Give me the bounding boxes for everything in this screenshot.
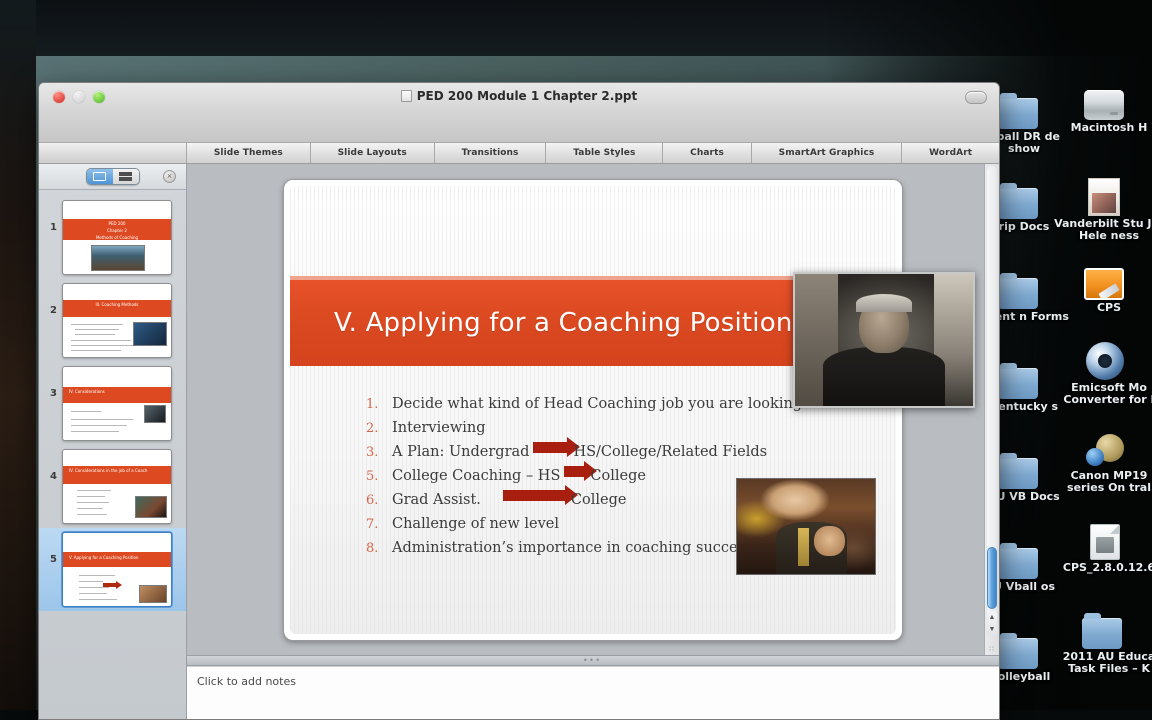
desktop-icon-label: U Vball os: [993, 580, 1055, 593]
folder-icon: [998, 188, 1038, 219]
folder-icon: [1082, 618, 1122, 649]
hard-disk-icon: [1084, 90, 1124, 120]
slide-thumbnail-preview[interactable]: IV. Considerations in the job of a Coach: [62, 449, 172, 524]
photo-detail-tie: [798, 528, 809, 566]
slide-thumbnail-list: 1 PED 200 Chapter 2 Methods of Coaching …: [39, 190, 186, 720]
desktop-left-strip: [0, 0, 36, 720]
right-arrow-shape: [564, 466, 584, 477]
desktop-icon-vanderbilt-student[interactable]: Vanderbilt Stu JP-Hele ness: [1054, 178, 1152, 242]
folder-icon: [998, 98, 1038, 129]
folder-icon: [998, 368, 1038, 399]
slide-canvas[interactable]: V. Applying for a Coaching Position 1. D…: [283, 179, 903, 641]
desktop-icon-label: Vanderbilt Stu JP-Hele ness: [1054, 217, 1152, 242]
scroll-up-icon[interactable]: ▲: [989, 614, 996, 621]
window-title-text: PED 200 Module 1 Chapter 2.ppt: [417, 89, 637, 103]
desktop-icon-label: rip Docs: [999, 220, 1050, 233]
desktop-icon-macintosh-hd[interactable]: Macintosh H: [1054, 90, 1152, 134]
outline-view-icon[interactable]: [113, 169, 139, 184]
screen-root: Vball DR de show rip Docs udent n Forms …: [0, 0, 1152, 720]
bullet-item[interactable]: 2. Interviewing: [366, 418, 878, 439]
tab-slide-layouts[interactable]: Slide Layouts: [311, 143, 435, 163]
tab-smartart-graphics[interactable]: SmartArt Graphics: [752, 143, 902, 163]
notes-placeholder: Click to add notes: [197, 675, 296, 688]
webcam-person-hair: [856, 294, 913, 312]
bullet-text: Grad Assist.: [392, 490, 481, 511]
slide-thumbnail-preview[interactable]: V. Applying for a Coaching Position: [62, 532, 172, 607]
bullet-text: Decide what kind of Head Coaching job yo…: [392, 394, 831, 415]
folder-icon: [998, 638, 1038, 669]
slide-thumbnail-4[interactable]: 4 IV. Considerations in the job of a Coa…: [39, 445, 186, 528]
sidebar-view-switcher[interactable]: [86, 168, 140, 185]
slide-vertical-scrollbar[interactable]: ▲ ▼ ∷: [984, 164, 999, 655]
slide-thumbnail-preview[interactable]: III. Coaching Methods: [62, 283, 172, 358]
bullet-number: 3.: [366, 442, 392, 463]
scrollbar-thumb[interactable]: [987, 547, 997, 609]
slide-scroll-area: V. Applying for a Coaching Position 1. D…: [187, 164, 999, 655]
desktop-icon-canon-mp190[interactable]: Canon MP19 series On tral: [1054, 434, 1152, 494]
sidebar-close-button[interactable]: ×: [163, 170, 176, 183]
coach-photo[interactable]: [736, 478, 876, 575]
photo-detail-hand: [814, 526, 844, 556]
bullet-text: A Plan: Undergrad: [392, 442, 529, 463]
slide-number: 5: [43, 532, 57, 565]
toolbar-toggle-button[interactable]: [965, 91, 987, 104]
sidebar-header: ×: [39, 164, 186, 190]
desktop-icon-label: Emicsoft Mo Converter for I: [1063, 381, 1152, 406]
slide-number: 3: [43, 366, 57, 399]
desktop-icon-label: Kentucky s: [990, 400, 1058, 413]
tab-table-styles[interactable]: Table Styles: [546, 143, 663, 163]
scrollbar-arrows[interactable]: ▲ ▼: [987, 611, 997, 635]
slide-thumbnail-2[interactable]: 2 III. Coaching Methods: [39, 279, 186, 362]
tab-slide-themes[interactable]: Slide Themes: [187, 143, 311, 163]
right-arrow-shape: [503, 490, 565, 501]
slide-title[interactable]: V. Applying for a Coaching Position: [290, 308, 793, 338]
slide-surface[interactable]: V. Applying for a Coaching Position 1. D…: [290, 186, 896, 634]
bullet-number: 5.: [366, 466, 392, 487]
bullet-number: 7.: [366, 514, 392, 535]
slide-thumbnail-preview[interactable]: IV. Considerations: [62, 366, 172, 441]
tab-transitions[interactable]: Transitions: [435, 143, 547, 163]
bullet-text: College Coaching – HS: [392, 466, 560, 487]
document-icon: [401, 90, 412, 102]
cps-app-icon: [1084, 268, 1124, 300]
scroll-down-icon[interactable]: ▼: [989, 626, 996, 633]
slide-number: 2: [43, 283, 57, 316]
work-area: × 1 PED 200 Chapter 2 Methods of Coachin…: [39, 164, 999, 720]
slide-thumbnail-1[interactable]: 1 PED 200 Chapter 2 Methods of Coaching: [39, 196, 186, 279]
powerpoint-window: PED 200 Module 1 Chapter 2.ppt Slide The…: [38, 82, 1000, 720]
folder-icon: [998, 278, 1038, 309]
window-title: PED 200 Module 1 Chapter 2.ppt: [39, 89, 999, 103]
folder-icon: [998, 548, 1038, 579]
ribbon-left-spacer: [39, 143, 187, 163]
scrollbar-grip-icon[interactable]: ∷: [985, 645, 999, 653]
desktop-icon-cps[interactable]: CPS: [1054, 268, 1152, 314]
bullet-text: Administration’s importance in coaching …: [392, 538, 753, 559]
slides-view-icon[interactable]: [87, 169, 113, 184]
bullet-number: 6.: [366, 490, 392, 511]
right-arrow-shape: [533, 442, 567, 453]
bullet-text-after: HS/College/Related Fields: [573, 442, 767, 463]
desktop-icon-2011-au-task-files[interactable]: 2011 AU Educa Task Files – K: [1054, 618, 1152, 675]
slides-sidebar: × 1 PED 200 Chapter 2 Methods of Coachin…: [39, 164, 187, 720]
desktop-icon-label: Macintosh H: [1071, 121, 1148, 134]
notes-pane[interactable]: Click to add notes: [187, 666, 999, 720]
ribbon-tabs: Slide Themes Slide Layouts Transitions T…: [39, 143, 999, 164]
bullet-item[interactable]: 3. A Plan: Undergrad HS/College/Related …: [366, 442, 878, 463]
tab-wordart[interactable]: WordArt: [902, 143, 999, 163]
desktop-icon-cps-installer[interactable]: CPS_2.8.0.12.6: [1054, 524, 1152, 574]
window-titlebar[interactable]: PED 200 Module 1 Chapter 2.ppt: [39, 83, 999, 143]
printer-utility-icon: [1086, 434, 1124, 468]
desktop-icon-label: CPS: [1097, 301, 1121, 314]
tab-charts[interactable]: Charts: [663, 143, 752, 163]
slide-number: 1: [43, 200, 57, 233]
slide-thumbnail-3[interactable]: 3 IV. Considerations: [39, 362, 186, 445]
folder-icon: [998, 458, 1038, 489]
bullet-number: 8.: [366, 538, 392, 559]
slide-editor: V. Applying for a Coaching Position 1. D…: [187, 164, 999, 720]
bullet-text-after: College: [571, 490, 627, 511]
webcam-video-overlay[interactable]: [793, 272, 975, 408]
document-icon: [1090, 524, 1120, 560]
desktop-icon-label: olleyball: [998, 670, 1051, 683]
image-file-icon: [1088, 178, 1120, 216]
slide-thumbnail-5[interactable]: 5 V. Applying for a Coaching Position: [39, 528, 186, 611]
bullet-text: Interviewing: [392, 418, 486, 439]
bullet-text: Challenge of new level: [392, 514, 559, 535]
media-converter-icon: [1086, 342, 1124, 380]
desktop-icon-label: 2011 AU Educa Task Files – K: [1063, 650, 1152, 675]
notes-splitter[interactable]: •••: [187, 655, 999, 666]
desktop-icon-label: CPS_2.8.0.12.6: [1063, 561, 1152, 574]
bullet-text-after: College: [590, 466, 646, 487]
bullet-number: 2.: [366, 418, 392, 439]
desktop-icon-label: Canon MP19 series On tral: [1067, 469, 1151, 494]
bullet-number: 1.: [366, 394, 392, 415]
slide-thumbnail-preview[interactable]: PED 200 Chapter 2 Methods of Coaching: [62, 200, 172, 275]
slide-number: 4: [43, 449, 57, 482]
webcam-person-body: [823, 347, 944, 408]
desktop-icon-emicsoft-converter[interactable]: Emicsoft Mo Converter for I: [1054, 342, 1152, 406]
